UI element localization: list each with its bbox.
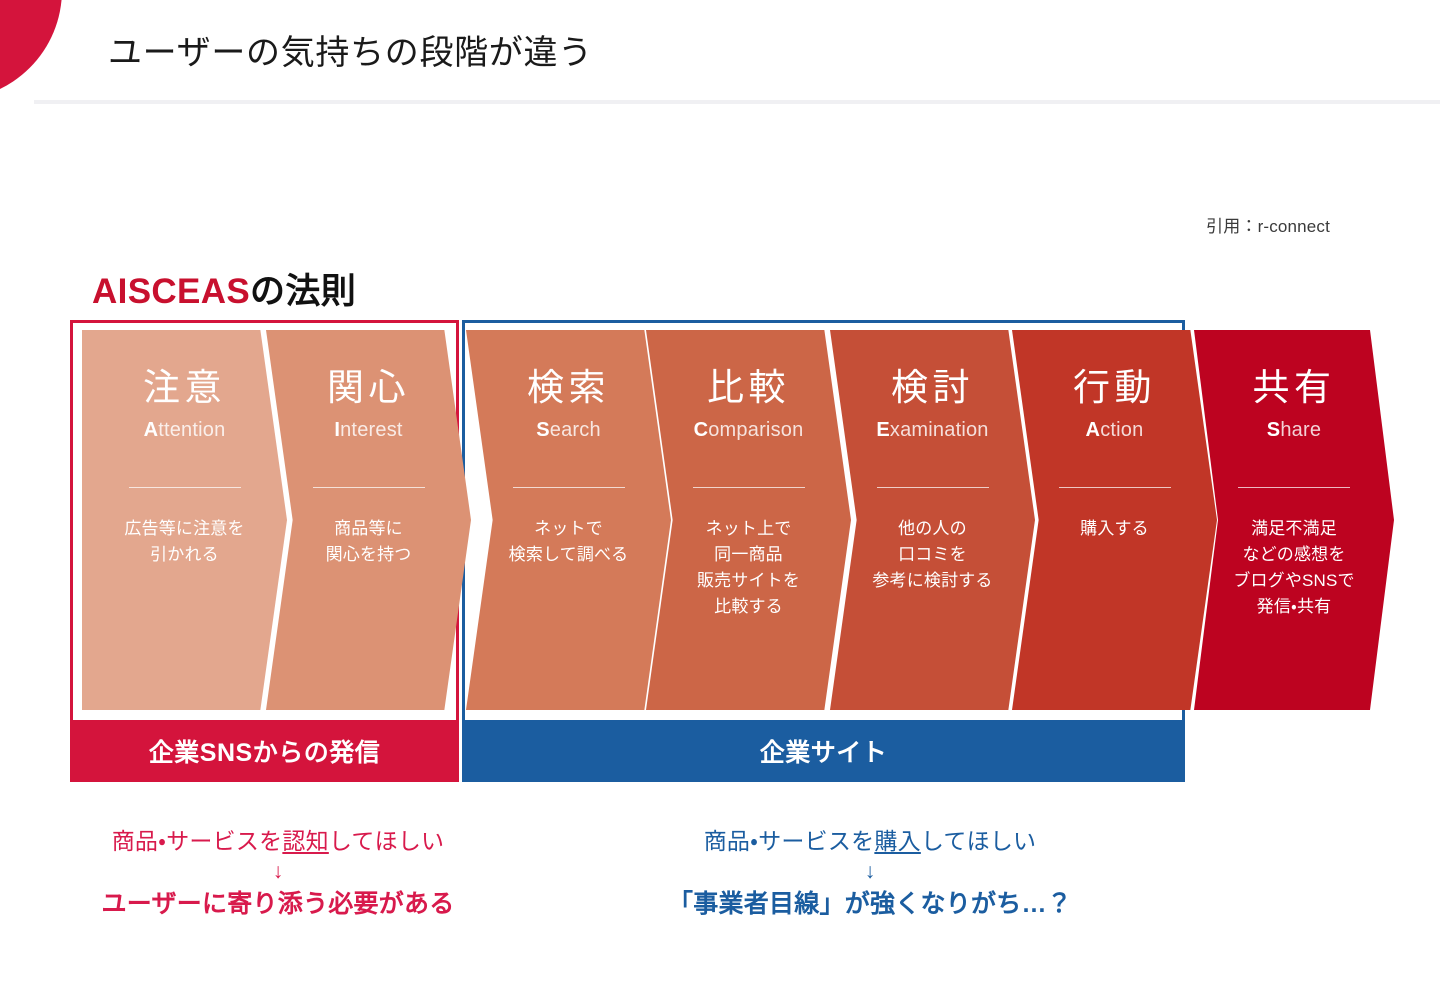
step-description-line: 関心を持つ (326, 542, 412, 568)
step-description-line: 引かれる (124, 542, 244, 568)
caption-line2: 「事業者目線」が強くなりがち…？ (660, 886, 1080, 922)
caption-line1: 商品・サービスを認知してほしい (78, 824, 478, 858)
caption-line1: 商品・サービスを購入してほしい (660, 824, 1080, 858)
step-initial: A (1086, 419, 1101, 441)
caption-text-before: 商品・サービスを (112, 828, 283, 854)
header-divider (34, 100, 1440, 104)
group-band-label: 企業サイト (760, 733, 888, 769)
step-en-rest: nterest (340, 419, 403, 441)
step-description: 商品等に 関心を持つ (326, 516, 412, 568)
step-initial: S (1267, 419, 1281, 441)
caption-text-emphasis: 購入 (874, 828, 920, 854)
step-description-line: 商品等に (326, 516, 412, 542)
step-description-line: 販売サイトを (697, 568, 800, 594)
corner-decoration-icon (0, 0, 62, 100)
group-band-corporate-site: 企業サイト (462, 720, 1185, 782)
step-title-jp: 検討 (891, 366, 974, 410)
step-divider (129, 487, 241, 488)
step-en-rest: hare (1280, 419, 1321, 441)
step-divider (313, 487, 425, 488)
group-band-corporate-sns: 企業SNSからの発信 (70, 720, 459, 782)
step-divider (877, 487, 989, 488)
step-divider (1059, 487, 1171, 488)
step-title-en: Comparison (694, 417, 804, 443)
step-title-jp: 注意 (143, 366, 226, 410)
step-en-rest: ction (1100, 419, 1143, 441)
caption-text-after: してほしい (329, 828, 444, 854)
caption-text-before: 商品・サービスを (704, 828, 875, 854)
down-arrow-icon: ↓ (78, 858, 478, 886)
citation-label: 引用：r-connect (1206, 212, 1330, 237)
step-initial: S (536, 419, 550, 441)
step-title-jp: 関心 (327, 366, 410, 410)
step-description-line: 口コミを (872, 542, 992, 568)
step-search[interactable]: 検索 Search ネットで 検索して調べる (466, 330, 671, 710)
step-description-line: 購入する (1080, 516, 1149, 542)
step-description-line: 広告等に注意を (124, 516, 244, 542)
page-title: ユーザーの気持ちの段階が違う (108, 30, 593, 76)
caption-line2: ユーザーに寄り添う必要がある (78, 886, 478, 922)
step-description-line: 満足不満足 (1233, 516, 1354, 542)
step-en-rest: ttention (158, 419, 225, 441)
step-divider (693, 487, 805, 488)
step-description: 他の人の 口コミを 参考に検討する (872, 516, 992, 594)
step-description-line: 比較する (697, 594, 800, 620)
step-description-line: 参考に検討する (872, 568, 992, 594)
step-description: 購入する (1080, 516, 1149, 542)
step-title-en: Examination (876, 417, 988, 443)
step-initial: A (144, 419, 159, 441)
step-description: ネット上で 同一商品 販売サイトを 比較する (697, 516, 800, 620)
step-divider (1238, 487, 1350, 488)
step-description-line: などの感想を (1233, 542, 1354, 568)
step-description: ネットで 検索して調べる (509, 516, 629, 568)
step-title-jp: 行動 (1073, 366, 1156, 410)
section-heading-rest: の法則 (250, 272, 356, 311)
step-description: 満足不満足 などの感想を ブログやSNSで 発信・共有 (1233, 516, 1354, 620)
step-en-rest: earch (550, 419, 601, 441)
caption-corporate-sns: 商品・サービスを認知してほしい ↓ ユーザーに寄り添う必要がある (78, 824, 478, 922)
aisceas-diagram: 注意 Attention 広告等に注意を 引かれる 関心 Interest 商品… (70, 320, 1390, 790)
page-header: ユーザーの気持ちの段階が違う (0, 0, 1440, 104)
step-initial: C (694, 419, 709, 441)
step-action[interactable]: 行動 Action 購入する (1012, 330, 1217, 710)
step-description-line: 検索して調べる (509, 542, 629, 568)
step-examination[interactable]: 検討 Examination 他の人の 口コミを 参考に検討する (830, 330, 1035, 710)
step-title-en: Attention (144, 417, 226, 443)
step-description-line: 発信・共有 (1233, 594, 1354, 620)
step-divider (513, 487, 625, 488)
step-attention[interactable]: 注意 Attention 広告等に注意を 引かれる (82, 330, 287, 710)
step-description-line: 同一商品 (697, 542, 800, 568)
section-heading: AISCEASの法則 (92, 263, 356, 314)
step-description: 広告等に注意を 引かれる (124, 516, 244, 568)
step-en-rest: xamination (890, 419, 989, 441)
group-band-label: 企業SNSからの発信 (149, 733, 380, 769)
step-list: 注意 Attention 広告等に注意を 引かれる 関心 Interest 商品… (70, 320, 1390, 720)
step-title-en: Share (1267, 417, 1321, 443)
step-title-jp: 共有 (1253, 366, 1336, 410)
step-title-jp: 検索 (527, 366, 610, 410)
step-description-line: 他の人の (872, 516, 992, 542)
section-heading-accent: AISCEAS (92, 272, 250, 311)
step-description-line: ネット上で (697, 516, 800, 542)
step-interest[interactable]: 関心 Interest 商品等に 関心を持つ (266, 330, 471, 710)
step-comparison[interactable]: 比較 Comparison ネット上で 同一商品 販売サイトを 比較する (646, 330, 851, 710)
caption-text-after: してほしい (921, 828, 1036, 854)
down-arrow-icon: ↓ (660, 858, 1080, 886)
step-title-jp: 比較 (707, 366, 790, 410)
step-initial: E (876, 419, 890, 441)
step-title-en: Search (536, 417, 601, 443)
step-description-line: ネットで (509, 516, 629, 542)
step-title-en: Action (1086, 417, 1144, 443)
caption-text-emphasis: 認知 (282, 828, 328, 854)
step-en-rest: omparison (708, 419, 803, 441)
step-description-line: ブログやSNSで (1233, 568, 1354, 594)
step-title-en: Interest (334, 417, 402, 443)
caption-corporate-site: 商品・サービスを購入してほしい ↓ 「事業者目線」が強くなりがち…？ (660, 824, 1080, 922)
step-share[interactable]: 共有 Share 満足不満足 などの感想を ブログやSNSで 発信・共有 (1194, 330, 1394, 710)
